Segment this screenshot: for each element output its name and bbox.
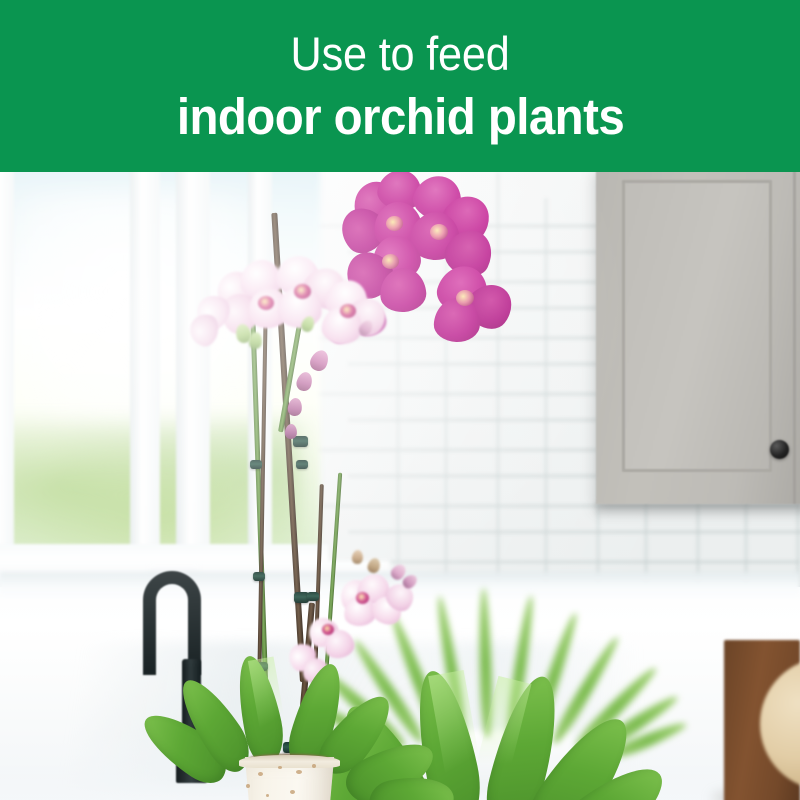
window-mullion-left [0,172,14,596]
banner-headline-line1: Use to feed [290,30,509,77]
product-poster: Use to feed indoor orchid plants [0,0,800,800]
pink-stem-clip-1 [250,460,262,469]
cabinet-stile [793,172,796,504]
upper-cabinet [596,172,800,504]
header-banner: Use to feed indoor orchid plants [0,0,800,172]
cabinet-shadow [596,502,800,518]
stem-clip-1 [293,436,308,447]
pink-stem-clip-2 [253,572,265,581]
cabinet-knob [770,440,789,459]
banner-headline-line2: indoor orchid plants [176,91,623,142]
window-mullion-mid [130,172,160,596]
product-lifestyle-photo [0,172,800,800]
stem-clip-2 [296,460,308,469]
cabinet-door-panel [622,180,772,472]
cream-pot-rim [239,755,340,768]
window-mullion-right [176,172,210,596]
pink-stem-clip-5 [307,592,319,601]
